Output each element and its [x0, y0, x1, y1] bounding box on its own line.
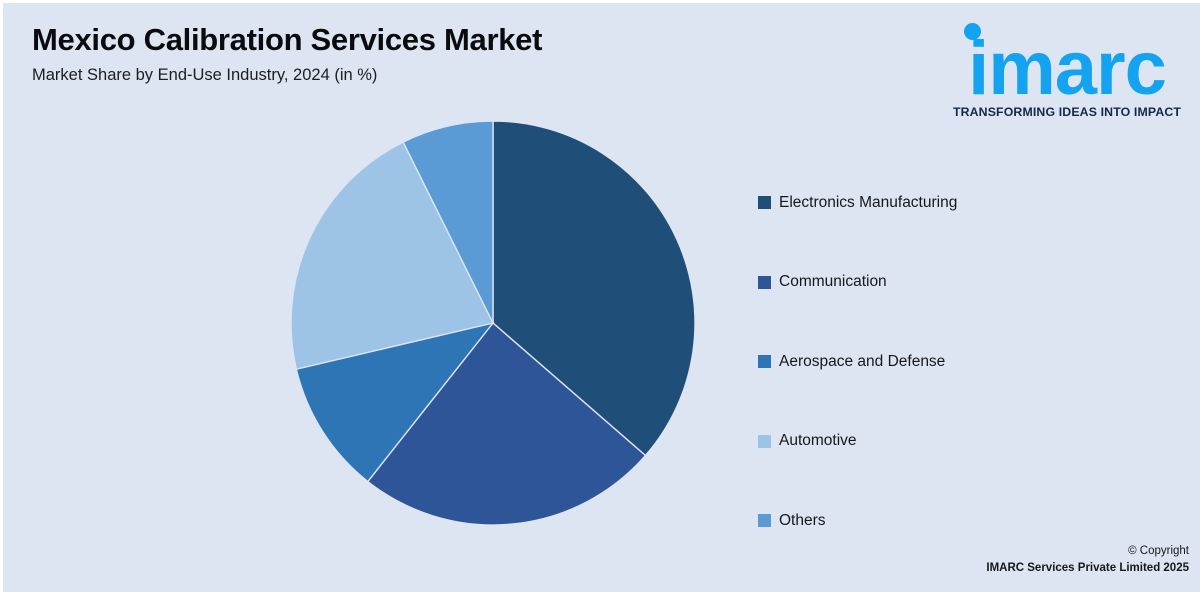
- imarc-logo: imarc TRANSFORMING IDEAS INTO IMPACT: [942, 17, 1192, 113]
- legend-item[interactable]: Electronics Manufacturing: [758, 163, 1158, 243]
- chart-legend: Electronics ManufacturingCommunicationAe…: [758, 163, 1158, 561]
- pie-chart-svg: [290, 120, 696, 526]
- pie-chart: [290, 120, 696, 526]
- chart-canvas: Mexico Calibration Services Market Marke…: [0, 0, 1203, 595]
- legend-label: Electronics Manufacturing: [779, 194, 957, 212]
- legend-item[interactable]: Aerospace and Defense: [758, 322, 1158, 402]
- legend-item[interactable]: Automotive: [758, 402, 1158, 482]
- legend-swatch-icon: [758, 435, 771, 448]
- legend-label: Aerospace and Defense: [779, 353, 945, 371]
- legend-item[interactable]: Communication: [758, 243, 1158, 323]
- header: Mexico Calibration Services Market Marke…: [32, 21, 732, 86]
- logo-tagline: TRANSFORMING IDEAS INTO IMPACT: [942, 105, 1192, 119]
- legend-swatch-icon: [758, 355, 771, 368]
- copyright-line-2: IMARC Services Private Limited 2025: [986, 560, 1189, 577]
- legend-swatch-icon: [758, 196, 771, 209]
- legend-label: Others: [779, 512, 826, 530]
- pie-slice-group: [291, 121, 695, 525]
- legend-swatch-icon: [758, 514, 771, 527]
- copyright-line-1: © Copyright: [986, 543, 1189, 560]
- legend-label: Communication: [779, 273, 887, 291]
- logo-wordmark: imarc: [942, 31, 1192, 107]
- page-subtitle: Market Share by End-Use Industry, 2024 (…: [32, 64, 732, 86]
- page-title: Mexico Calibration Services Market: [32, 21, 732, 59]
- legend-label: Automotive: [779, 432, 857, 450]
- legend-swatch-icon: [758, 276, 771, 289]
- copyright-notice: © Copyright IMARC Services Private Limit…: [986, 543, 1189, 576]
